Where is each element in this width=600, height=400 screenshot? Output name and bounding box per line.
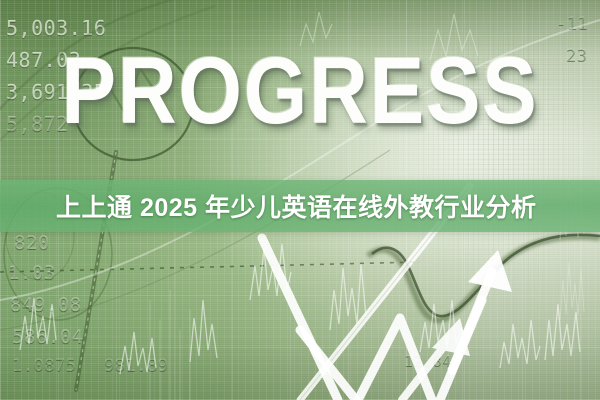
- progress-banner: 5,003.16 487.03 3,691.25 5,872 820 1.03 …: [0, 0, 600, 400]
- title-band: 上上通 2025 年少儿英语在线外教行业分析: [0, 180, 600, 232]
- banner-subtitle: 上上通 2025 年少儿英语在线外教行业分析: [56, 188, 537, 224]
- trend-up-arrow: [262, 238, 512, 400]
- page-title: PROGRESS: [42, 44, 558, 139]
